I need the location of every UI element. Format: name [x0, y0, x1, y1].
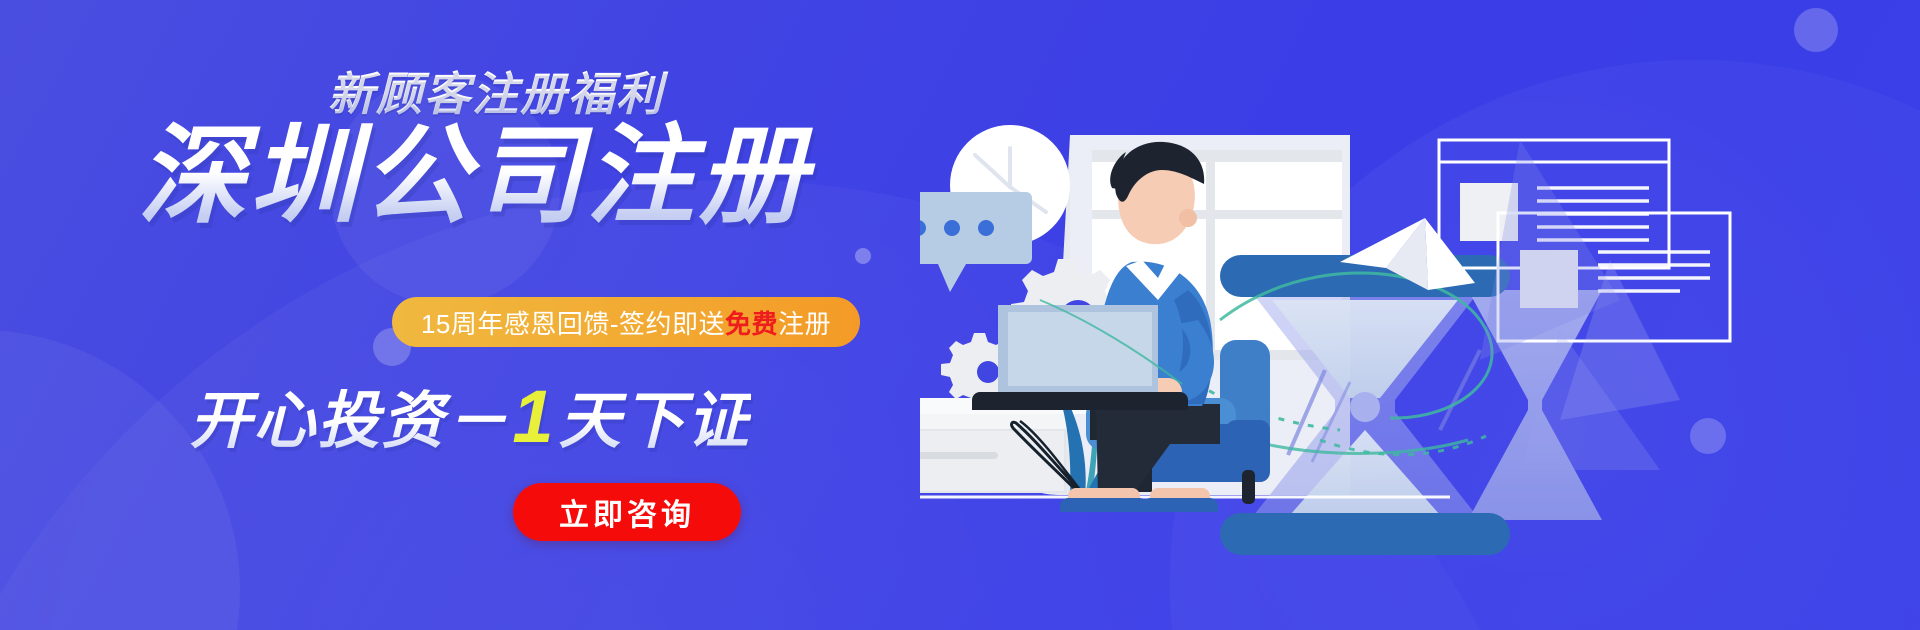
tagline: 开心投资－1天下证: [0, 370, 930, 460]
tagline-before: 开心投资－: [189, 387, 509, 456]
page-title: 深圳公司注册: [0, 118, 930, 235]
tagline-number: 1: [512, 375, 555, 458]
consult-now-button[interactable]: 立即咨询: [513, 483, 741, 541]
tagline-after: 天下证: [559, 387, 751, 456]
chat-bubble-icon: [920, 192, 1032, 292]
banner-copy: 新顾客注册福利 深圳公司注册 15周年感恩回馈-签约即送免费注册 开心投资－1天…: [0, 0, 930, 630]
promo-banner: 新顾客注册福利 深圳公司注册 15周年感恩回馈-签约即送免费注册 开心投资－1天…: [0, 0, 1920, 630]
laptop-icon: [972, 300, 1188, 410]
offer-badge: 15周年感恩回馈-签约即送免费注册: [392, 297, 860, 347]
offer-highlight: 免费: [725, 304, 778, 341]
offer-prefix: 15周年感恩回馈-签约即送: [421, 304, 725, 341]
illustration: [920, 0, 1920, 630]
offer-suffix: 注册: [778, 304, 831, 341]
